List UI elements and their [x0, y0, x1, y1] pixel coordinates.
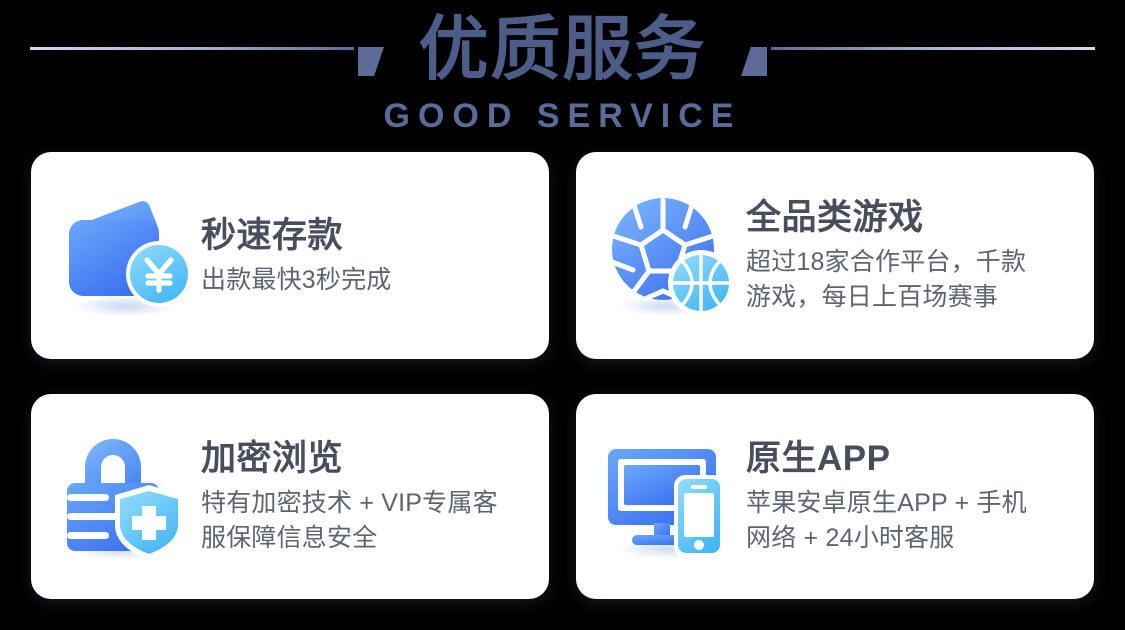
soccer-basketball-icon: [600, 186, 740, 326]
card-description: 超过18家合作平台，千款 游戏，每日上百场赛事: [746, 245, 1080, 315]
card-title: 加密浏览: [201, 437, 535, 481]
card-description-line: 网络 + 24小时客服: [746, 521, 1080, 556]
feature-card-text: 秒速存款 出款最快3秒完成: [201, 214, 549, 298]
card-title: 原生APP: [746, 437, 1080, 481]
card-description-line: 游戏，每日上百场赛事: [746, 280, 1080, 315]
card-description-line: 特有加密技术 + VIP专属客: [201, 486, 535, 521]
banner-header: 优质服务 GOOD SERVICE: [0, 0, 1125, 146]
card-description-line: 出款最快3秒完成: [201, 263, 535, 298]
feature-card-grid: 秒速存款 出款最快3秒完成: [31, 152, 1094, 599]
feature-card-encryption[interactable]: 加密浏览 特有加密技术 + VIP专属客 服保障信息安全: [31, 394, 549, 599]
page-title: 优质服务: [0, 8, 1125, 90]
feature-card-native-app[interactable]: 原生APP 苹果安卓原生APP + 手机 网络 + 24小时客服: [576, 394, 1094, 599]
card-title: 秒速存款: [201, 214, 535, 258]
feature-card-text: 加密浏览 特有加密技术 + VIP专属客 服保障信息安全: [201, 437, 549, 556]
service-feature-banner: 优质服务 GOOD SERVICE: [0, 0, 1125, 630]
feature-card-text: 原生APP 苹果安卓原生APP + 手机 网络 + 24小时客服: [746, 437, 1094, 556]
card-title: 全品类游戏: [746, 196, 1080, 240]
card-description-line: 苹果安卓原生APP + 手机: [746, 486, 1080, 521]
card-description: 苹果安卓原生APP + 手机 网络 + 24小时客服: [746, 486, 1080, 556]
feature-card-deposit[interactable]: 秒速存款 出款最快3秒完成: [31, 152, 549, 359]
wallet-yen-icon: [55, 186, 195, 326]
card-description: 出款最快3秒完成: [201, 263, 535, 298]
card-description-line: 服保障信息安全: [201, 521, 535, 556]
card-description: 特有加密技术 + VIP专属客 服保障信息安全: [201, 486, 535, 556]
monitor-phone-icon: [600, 427, 740, 567]
page-subtitle: GOOD SERVICE: [0, 96, 1125, 136]
card-description-line: 超过18家合作平台，千款: [746, 245, 1080, 280]
feature-card-games[interactable]: 全品类游戏 超过18家合作平台，千款 游戏，每日上百场赛事: [576, 152, 1094, 359]
feature-card-text: 全品类游戏 超过18家合作平台，千款 游戏，每日上百场赛事: [746, 196, 1094, 315]
lock-shield-icon: [55, 427, 195, 567]
